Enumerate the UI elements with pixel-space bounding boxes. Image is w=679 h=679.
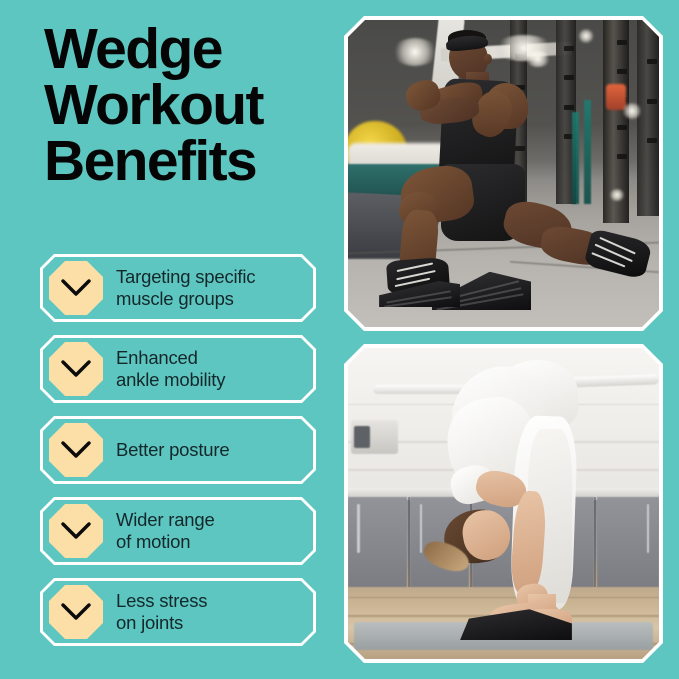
- photo-frame: [348, 348, 659, 659]
- headline-line-2: Workout: [44, 78, 329, 134]
- gym-scene: [348, 20, 659, 327]
- headline-line-1: Wedge: [44, 22, 329, 78]
- check-icon: [49, 585, 103, 639]
- list-item: Better posture: [40, 416, 316, 484]
- list-item-label: Targeting specific muscle groups: [116, 266, 255, 310]
- check-icon: [49, 423, 103, 477]
- card-content: Wider range of motion: [40, 497, 316, 565]
- list-item-label: Less stress on joints: [116, 590, 207, 634]
- list-item: Enhanced ankle mobility: [40, 335, 316, 403]
- card-content: Better posture: [40, 416, 316, 484]
- yoga-forward-fold-photo: [344, 344, 663, 663]
- check-icon: [49, 504, 103, 558]
- list-item-label: Enhanced ankle mobility: [116, 347, 225, 391]
- kitchen-appliance-panel: [354, 426, 370, 448]
- check-icon: [49, 261, 103, 315]
- athlete-shoe: [584, 228, 654, 280]
- card-content: Targeting specific muscle groups: [40, 254, 316, 322]
- left-column: Wedge Workout Benefits Targeting specifi…: [0, 0, 340, 679]
- list-item: Targeting specific muscle groups: [40, 254, 316, 322]
- poster-canvas: Wedge Workout Benefits Targeting specifi…: [0, 0, 679, 679]
- athlete-ear: [484, 54, 492, 64]
- list-item-label: Wider range of motion: [116, 509, 215, 553]
- list-item: Wider range of motion: [40, 497, 316, 565]
- gym-athlete: [348, 20, 659, 327]
- kitchen-cabinet: [597, 497, 659, 587]
- list-item: Less stress on joints: [40, 578, 316, 646]
- page-title: Wedge Workout Benefits: [44, 22, 329, 190]
- photo-frame: [348, 20, 659, 327]
- list-item-label: Better posture: [116, 439, 229, 461]
- headline-line-3: Benefits: [44, 134, 329, 190]
- check-icon: [49, 342, 103, 396]
- card-content: Enhanced ankle mobility: [40, 335, 316, 403]
- benefits-list: Targeting specific muscle groups Enhance…: [40, 254, 316, 659]
- yoga-scene: [348, 348, 659, 659]
- card-content: Less stress on joints: [40, 578, 316, 646]
- gym-lunge-photo: [344, 16, 663, 331]
